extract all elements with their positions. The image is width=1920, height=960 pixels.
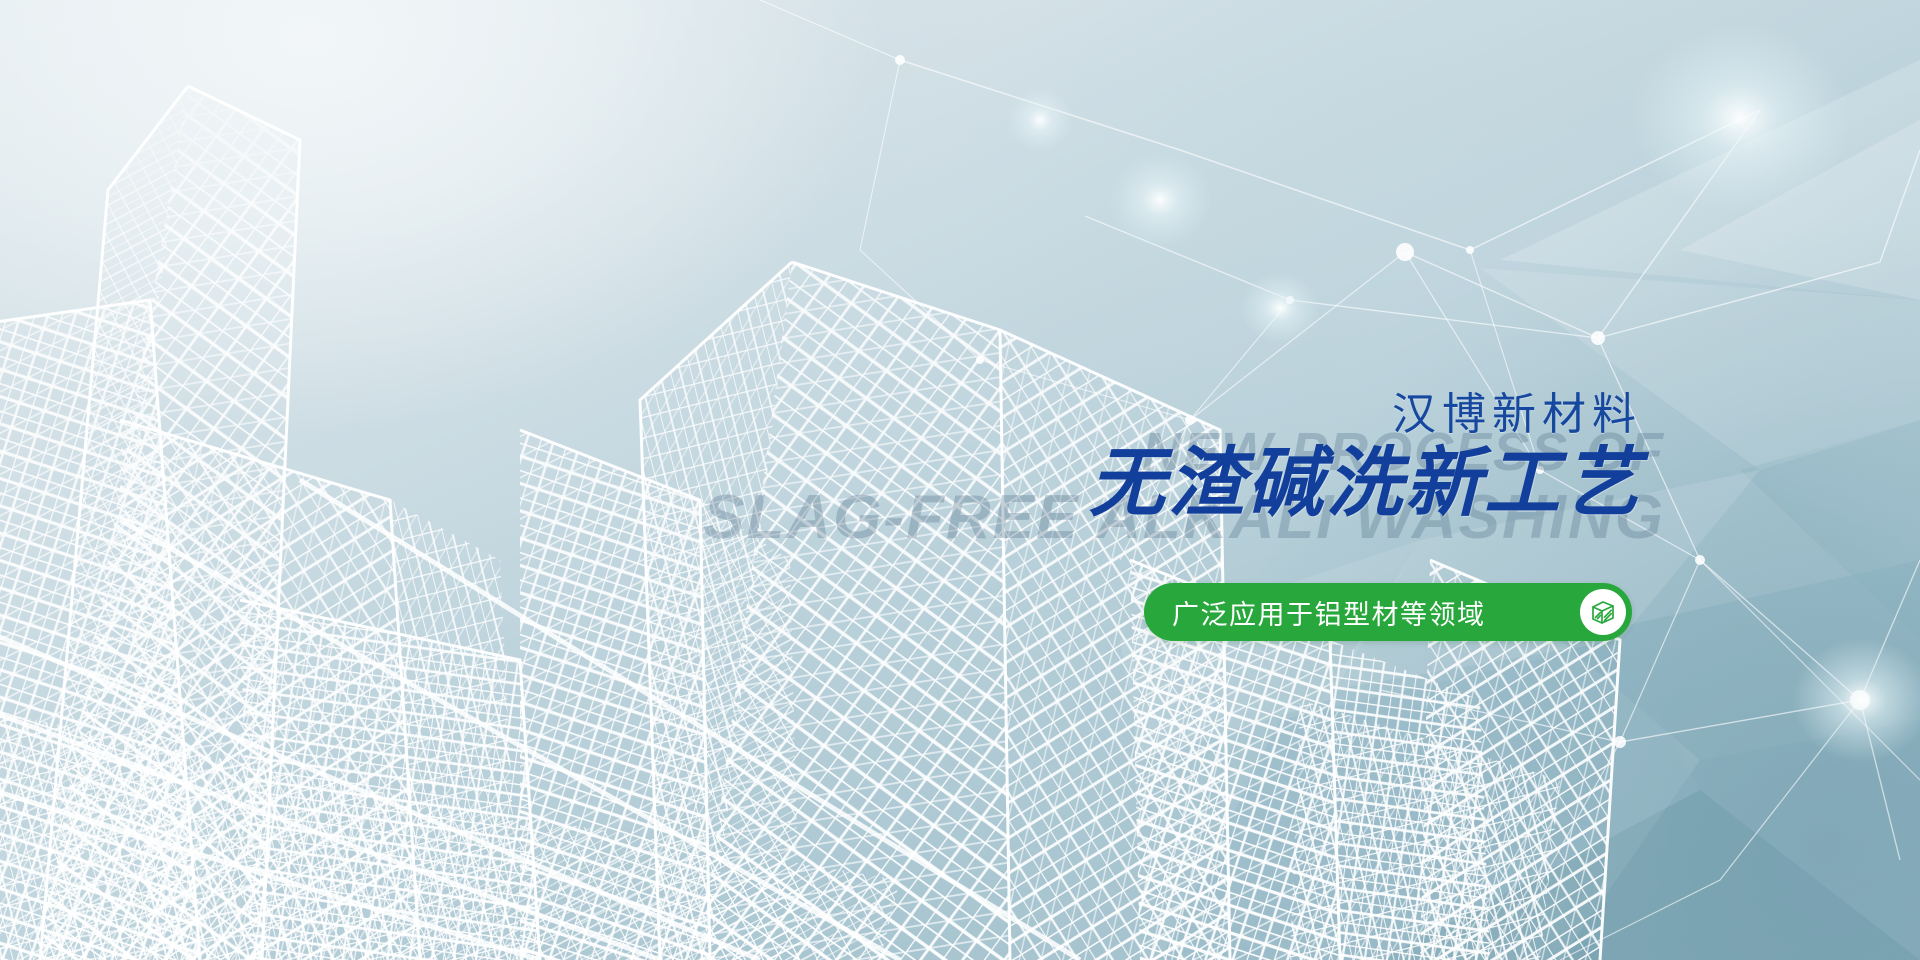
application-badge-label: 广泛应用于铝型材等领域 bbox=[1172, 593, 1486, 632]
hero-banner: NEW PROCESS OF SLAG-FREE ALKALI WASHING … bbox=[0, 0, 1920, 960]
headline-block: 汉博新材料 无渣碱洗新工艺 bbox=[1022, 392, 1642, 524]
cube-icon bbox=[1580, 589, 1626, 635]
page-title: 无渣碱洗新工艺 bbox=[1022, 444, 1642, 524]
brand-name: 汉博新材料 bbox=[1022, 392, 1642, 438]
application-badge[interactable]: 广泛应用于铝型材等领域 bbox=[1144, 583, 1632, 641]
